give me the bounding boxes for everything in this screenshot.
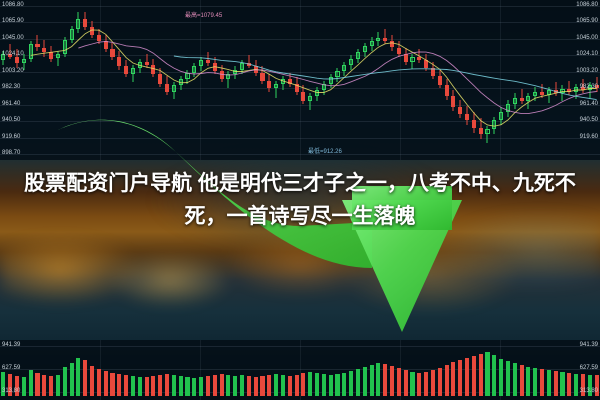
headline-text: 股票配资门户导航 他是明代三才子之一，八考不中、九死不死，一首诗写尽一生落魄 bbox=[14, 168, 586, 233]
stock-chart-banner: 1086.801065.901045.001024.101003.20982.3… bbox=[0, 0, 600, 400]
